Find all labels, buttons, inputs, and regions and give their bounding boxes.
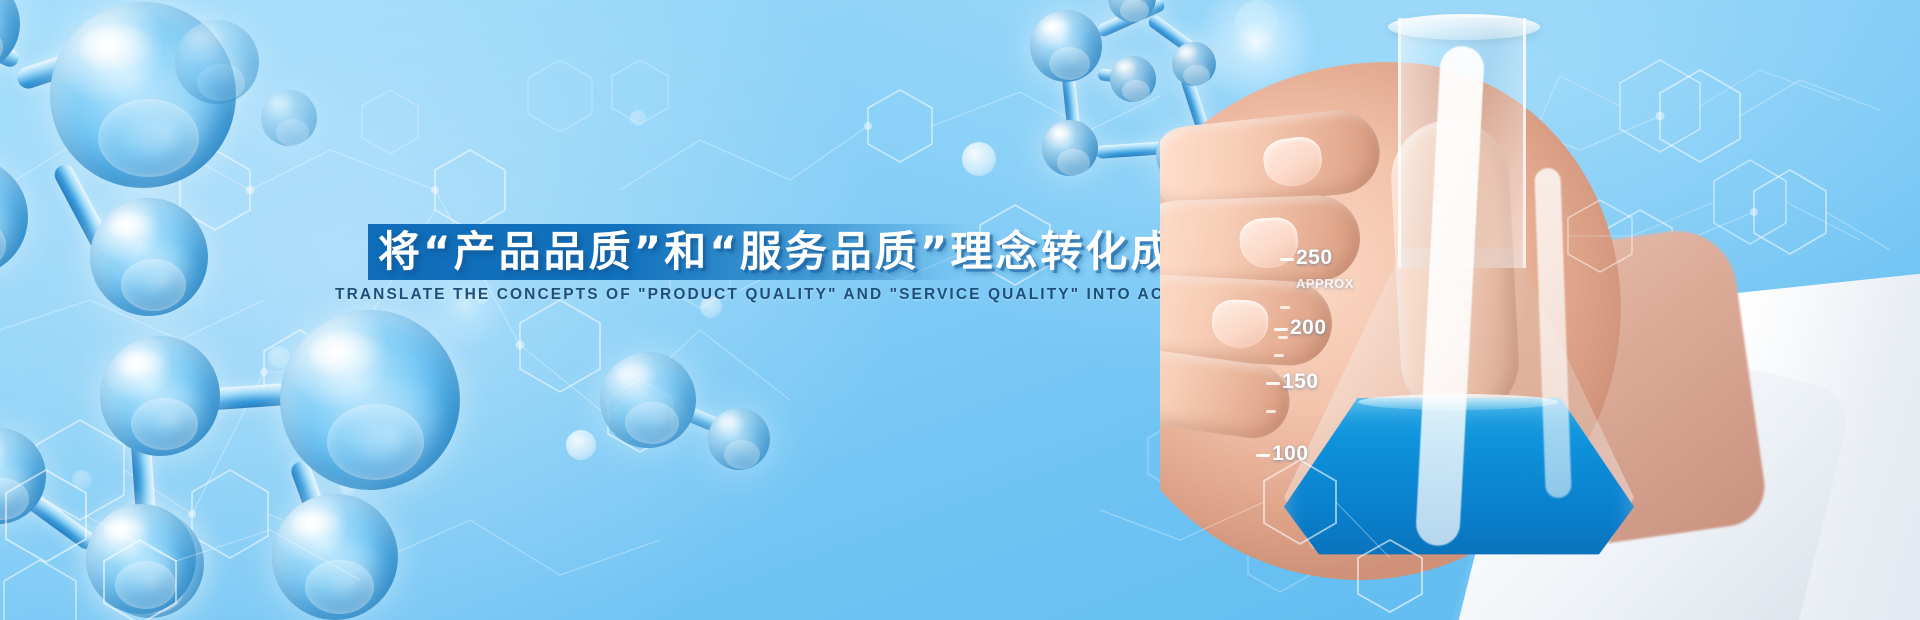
headline-block: 将“产品品质”和“服务品质”理念转化成行动	[368, 224, 1008, 280]
molecule-cluster-faint-left-top	[175, 20, 345, 180]
flask-tick-100	[1256, 454, 1270, 457]
flask-graduation-100: 100	[1272, 442, 1309, 466]
molecule-cluster-faint-center	[600, 330, 800, 510]
flask-graduation-approx: APPROX	[1296, 276, 1354, 291]
molecule-cluster-bottom-left	[0, 420, 260, 620]
headline-text: 将“产品品质”和“服务品质”理念转化成行动	[378, 214, 1265, 290]
flask-minitick-d	[1266, 410, 1276, 413]
flask-tick-250	[1280, 258, 1294, 261]
subheadline-text: TRANSLATE THE CONCEPTS OF "PRODUCT QUALI…	[335, 286, 1210, 304]
flask-minitick-b	[1278, 336, 1288, 339]
flask-graduation-250: 250	[1296, 246, 1333, 270]
flask-tick-150	[1266, 382, 1280, 385]
flask-minitick-a	[1280, 306, 1290, 309]
flask-tick-200	[1274, 328, 1288, 331]
erlenmeyer-flask: 250 APPROX 200 150 100	[1278, 18, 1638, 578]
flask-graduation-200: 200	[1290, 316, 1327, 340]
hero-banner: 将“产品品质”和“服务品质”理念转化成行动 TRANSLATE THE CONC…	[0, 0, 1920, 620]
flask-minitick-c	[1274, 354, 1284, 357]
molecule-cluster-top-left	[0, 0, 300, 290]
hand-holding-flask-photo: 250 APPROX 200 150 100	[1160, 0, 1920, 620]
flask-graduation-150: 150	[1282, 370, 1319, 394]
molecule-cluster-left	[40, 270, 460, 620]
